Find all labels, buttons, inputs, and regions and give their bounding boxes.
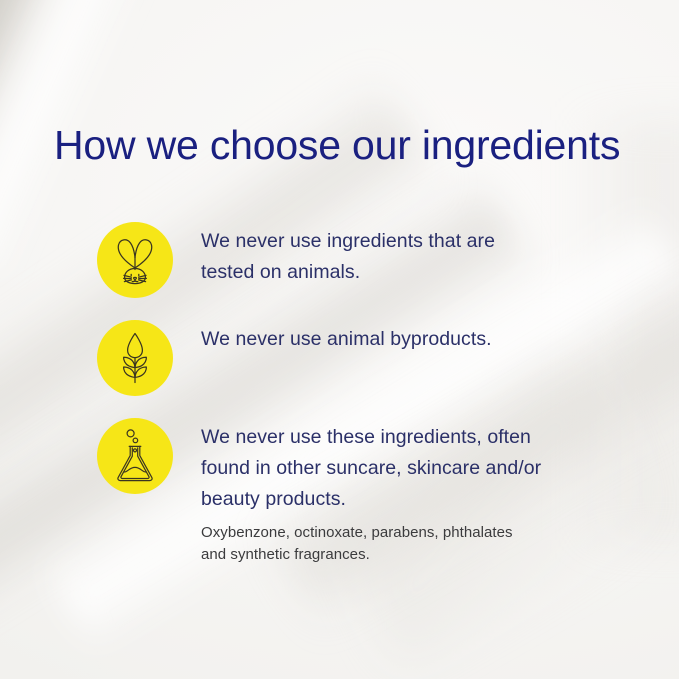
list-item-text: We never use animal byproducts. <box>201 324 492 355</box>
subtext-line: Oxybenzone, octinoxate, parabens, phthal… <box>201 522 541 544</box>
content-layer: How we choose our ingredients <box>0 0 679 679</box>
text-line: We never use animal byproducts. <box>201 324 492 355</box>
erlenmeyer-flask-icon <box>97 418 173 494</box>
list-item-text-block: We never use these ingredients, often fo… <box>201 416 541 566</box>
list-item-text: We never use ingredients that are tested… <box>201 226 495 288</box>
subtext-line: and synthetic fragrances. <box>201 544 541 566</box>
list-item-text-block: We never use animal byproducts. <box>201 318 492 355</box>
text-line: found in other suncare, skincare and/or <box>201 453 541 484</box>
text-line: beauty products. <box>201 484 541 515</box>
list-item: We never use these ingredients, often fo… <box>97 416 637 566</box>
bunny-heart-ears-icon <box>97 222 173 298</box>
list-item-subtext: Oxybenzone, octinoxate, parabens, phthal… <box>201 522 541 566</box>
text-line: We never use these ingredients, often <box>201 422 541 453</box>
list-item-text-block: We never use ingredients that are tested… <box>201 220 495 288</box>
list-item-text: We never use these ingredients, often fo… <box>201 422 541 515</box>
list-item: We never use animal byproducts. <box>97 318 637 396</box>
text-line: tested on animals. <box>201 257 495 288</box>
list-item: We never use ingredients that are tested… <box>97 220 637 298</box>
page-title: How we choose our ingredients <box>54 122 620 170</box>
text-line: We never use ingredients that are <box>201 226 495 257</box>
benefit-list: We never use ingredients that are tested… <box>97 220 637 566</box>
infographic-canvas: How we choose our ingredients <box>0 0 679 679</box>
plant-sprout-icon <box>97 320 173 396</box>
